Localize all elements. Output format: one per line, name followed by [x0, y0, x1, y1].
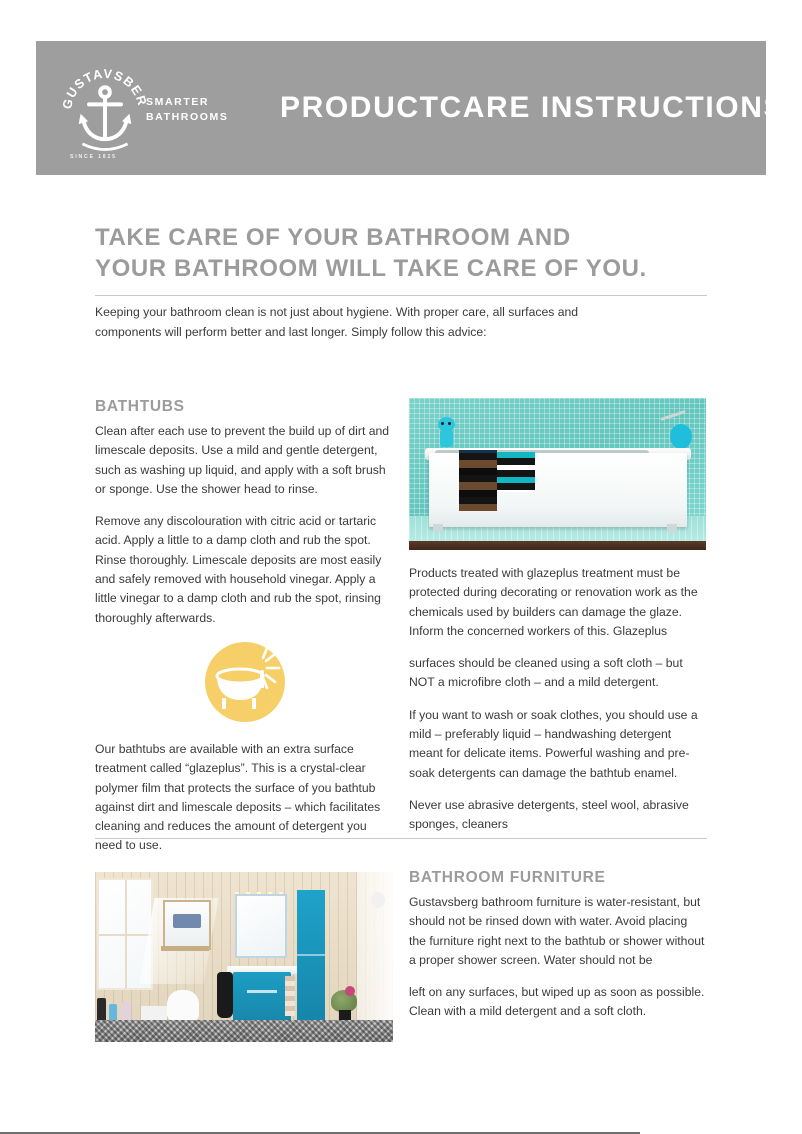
furniture-photo-bottles [97, 996, 143, 1022]
bathtub-photo-towel-dark [459, 450, 497, 511]
lead-heading: TAKE CARE OF YOUR BATHROOM AND YOUR BATH… [95, 222, 707, 284]
furniture-photo-tall-cabinet-seam [297, 954, 325, 956]
divider-top [95, 295, 707, 296]
furniture-paragraph-2: left on any surfaces, but wiped up as so… [409, 983, 707, 1022]
furniture-photo-floor [95, 1020, 393, 1042]
header-band: GUSTAVSBERG SMARTER [36, 41, 766, 175]
brand-tagline-line2: BATHROOMS [146, 110, 228, 125]
furniture-photo-mirror [235, 894, 287, 958]
bathtub-photo [409, 398, 706, 550]
bathtubs-left-column: BATHTUBS Clean after each use to prevent… [95, 398, 395, 856]
section-heading-bathtubs: BATHTUBS [95, 398, 395, 416]
bottle-3 [121, 1002, 131, 1022]
brand-logo-block: GUSTAVSBERG SMARTER [36, 41, 246, 175]
lead-heading-line2: YOUR BATHROOM WILL TAKE CARE OF YOU. [95, 253, 707, 284]
bathtubs-right-paragraph-4: Never use abrasive detergents, steel woo… [409, 796, 707, 835]
furniture-text-column: BATHROOM FURNITURE Gustavsberg bathroom … [409, 869, 707, 1022]
bathtub-photo-toy-figure [436, 417, 457, 447]
bathtubs-right-paragraph-1: Products treated with glazeplus treatmen… [409, 564, 707, 641]
lead-body-text: Keeping your bathroom clean is not just … [95, 303, 615, 342]
furniture-photo-toilet [167, 990, 199, 1022]
furniture-photo-vanity-handle [247, 990, 277, 993]
furniture-photo-shower-knob [371, 892, 385, 908]
lead-heading-line1: TAKE CARE OF YOUR BATHROOM AND [95, 222, 707, 253]
bathtubs-paragraph-1: Clean after each use to prevent the buil… [95, 422, 395, 499]
furniture-photo-plant [331, 990, 357, 1024]
furniture-photo-hanging-robe [217, 972, 233, 1018]
section-heading-bathroom-furniture: BATHROOM FURNITURE [409, 869, 707, 887]
bathtub-photo-wood-floor [409, 541, 706, 550]
bottle-1 [97, 998, 106, 1022]
page-title: PRODUCTCARE INSTRUCTIONS [280, 91, 785, 125]
bathtub-photo-foot-left [433, 524, 443, 532]
bathtubs-right-paragraph-2: surfaces should be cleaned using a soft … [409, 654, 707, 693]
divider-middle [95, 838, 707, 839]
bathtubs-right-paragraph-3: If you want to wash or soak clothes, you… [409, 706, 707, 783]
furniture-photo-wall-cabinet [163, 900, 211, 950]
toy-body [440, 430, 453, 447]
bathtubs-paragraph-2: Remove any discolouration with citric ac… [95, 512, 395, 628]
bathtub-photo-sponge [670, 424, 692, 449]
bathtub-photo-foot-right [667, 524, 677, 532]
furniture-paragraph-1: Gustavsberg bathroom furniture is water-… [409, 893, 707, 970]
brand-tagline-line1: SMARTER [146, 95, 228, 110]
gustavsberg-anchor-logo-icon: GUSTAVSBERG [58, 63, 152, 157]
furniture-photo-blue-vanity [233, 972, 291, 1022]
bathtub-badge-wrapper [95, 642, 395, 722]
bathtub-photo-towel-striped [497, 452, 535, 492]
bathroom-furniture-photo [95, 872, 393, 1042]
bathtubs-right-column: Products treated with glazeplus treatmen… [409, 398, 707, 835]
toy-eye-left [441, 422, 444, 425]
brand-since-label: SINCE 1825 [70, 154, 117, 160]
furniture-photo-tall-cabinet [297, 890, 325, 1022]
furniture-photo-column [95, 872, 393, 1042]
furniture-photo-shelf [161, 946, 209, 951]
brand-tagline: SMARTER BATHROOMS [146, 95, 228, 125]
bathtub-sparkle-badge-icon [205, 642, 285, 722]
plant-flower [345, 986, 355, 996]
furniture-photo-towel [285, 976, 295, 1016]
toy-eye-right [448, 422, 451, 425]
furniture-photo-artwork [173, 914, 201, 928]
document-page: GUSTAVSBERG SMARTER [0, 0, 802, 1134]
